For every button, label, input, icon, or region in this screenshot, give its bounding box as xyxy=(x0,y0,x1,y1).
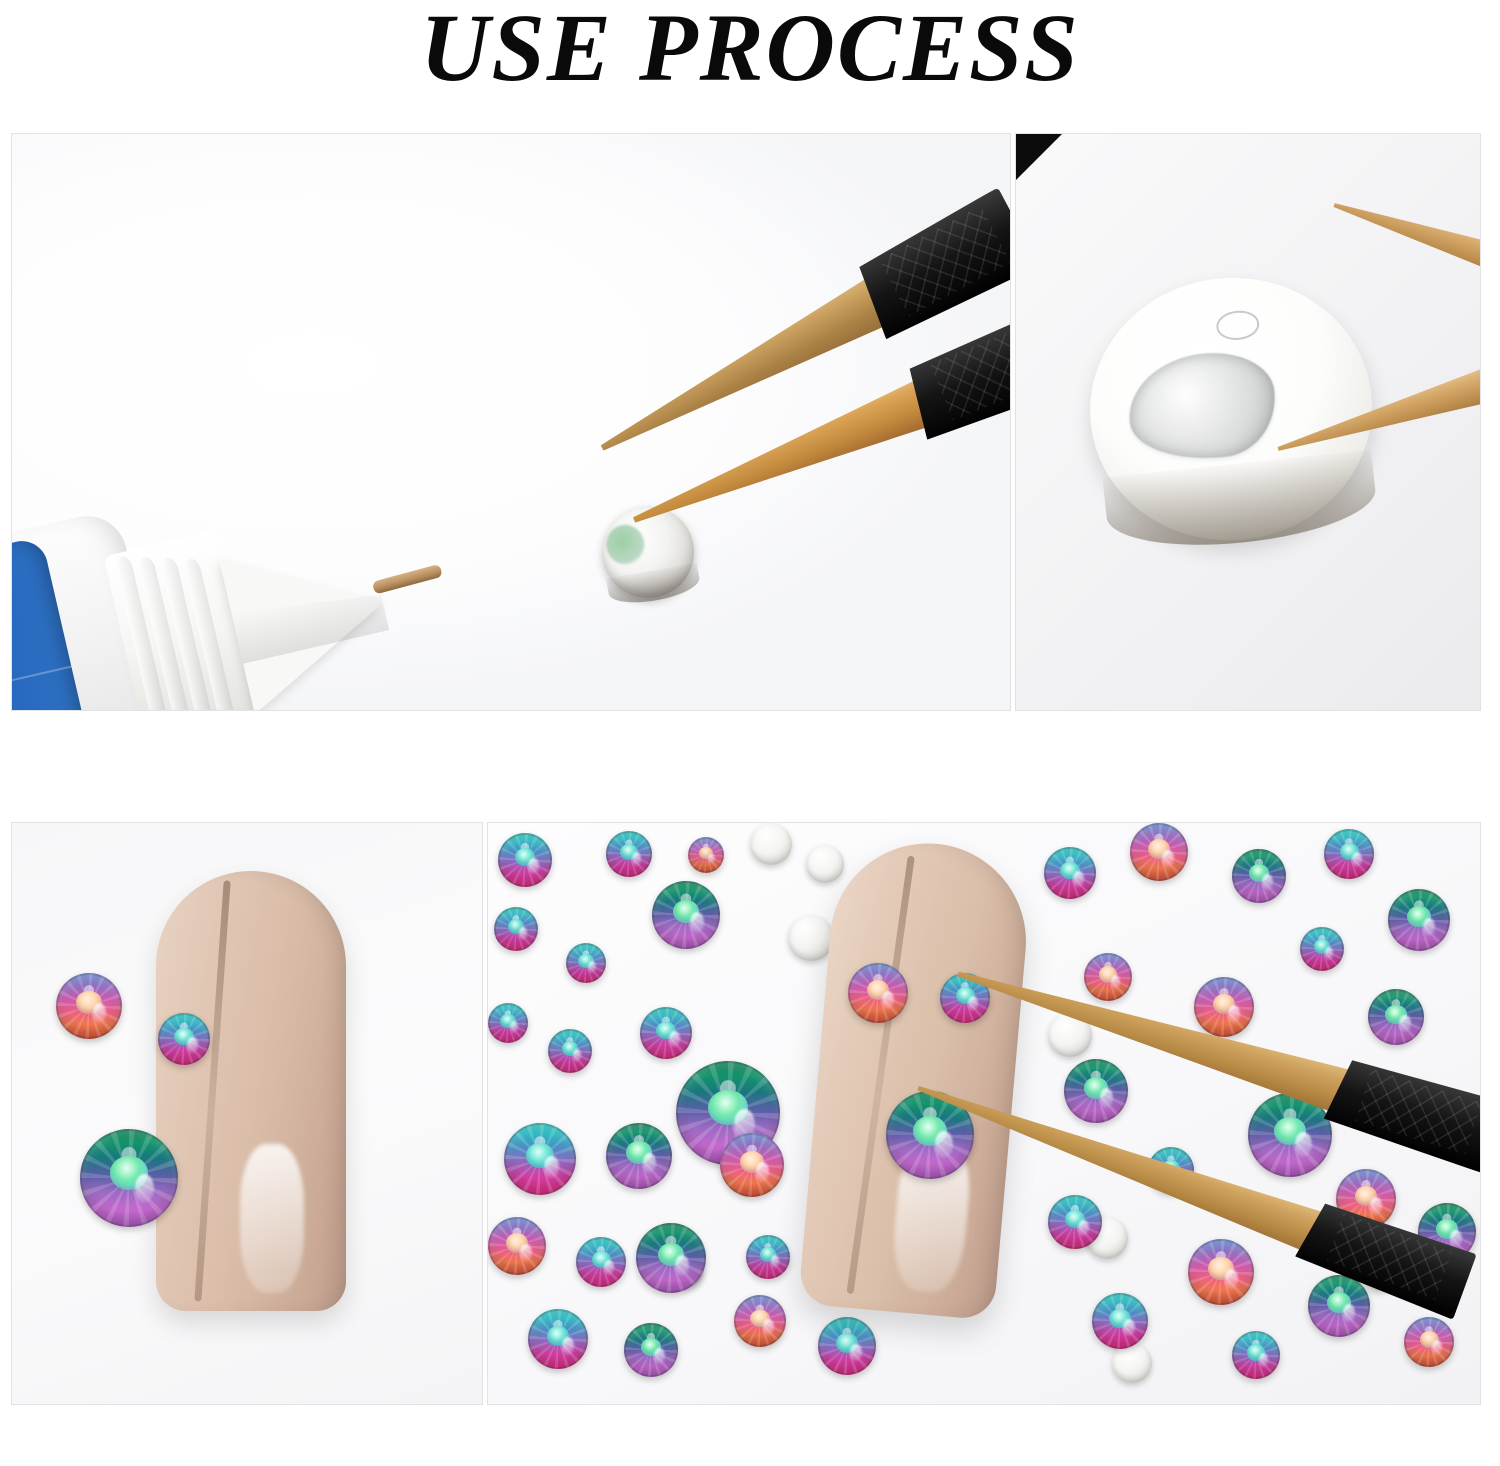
rhinestone-rim xyxy=(498,833,552,887)
flatback-disc xyxy=(1112,1343,1152,1383)
rhinestone xyxy=(528,1309,588,1369)
rhinestone-rim xyxy=(652,881,720,949)
rhinestone-rim xyxy=(606,831,652,877)
page-title: USE PROCESS xyxy=(0,0,1500,103)
rhinestone-rim xyxy=(1308,1275,1370,1337)
rhinestone-rim xyxy=(566,943,606,983)
rhinestone xyxy=(1368,989,1424,1045)
rhinestone-rim xyxy=(688,837,724,873)
rhinestone-rim xyxy=(1388,889,1450,951)
rhinestone xyxy=(1308,1275,1370,1337)
rhinestone xyxy=(746,1235,790,1279)
rhinestone-rim xyxy=(1044,847,1096,899)
rhinestone-rim xyxy=(720,1133,784,1197)
rhinestone xyxy=(688,837,724,873)
glue-bubble xyxy=(1215,309,1260,342)
panel-finished-nail xyxy=(11,822,483,1405)
rhinestone-rim xyxy=(1092,1293,1148,1349)
rhinestone xyxy=(576,1237,626,1287)
rhinestone-rim xyxy=(158,1013,210,1065)
flatback-disc xyxy=(750,823,792,865)
rhinestone xyxy=(606,1123,672,1189)
rhinestone xyxy=(818,1317,876,1375)
step-2-section: #STEP 2: Put the rhinestone on the nail xyxy=(0,822,1500,1405)
rhinestone-rim xyxy=(488,1003,528,1043)
rhinestone-rim xyxy=(1232,849,1286,903)
step-2-panel-row xyxy=(0,822,1500,1405)
rhinestone xyxy=(1300,927,1344,971)
rhinestone xyxy=(624,1323,678,1377)
rhinestone xyxy=(1044,847,1096,899)
rhinestone xyxy=(56,973,122,1039)
step-1-section: O T xyxy=(0,133,1500,711)
rhinestone xyxy=(494,907,538,951)
rhinestone-rim xyxy=(494,907,538,951)
nail-highlight xyxy=(240,1144,305,1294)
rhinestone-rim xyxy=(1232,1331,1280,1379)
rhinestone-rim xyxy=(1188,1239,1254,1305)
rhinestone-rim xyxy=(1300,927,1344,971)
rhinestone-rim xyxy=(818,1317,876,1375)
rhinestone-rim xyxy=(1130,823,1188,881)
rhinestone-rim xyxy=(80,1129,178,1227)
rhinestone xyxy=(606,831,652,877)
infographic-page: USE PROCESS O T xyxy=(0,0,1500,1466)
rhinestone-rim xyxy=(606,1123,672,1189)
rhinestone xyxy=(1388,889,1450,951)
panel-rhinestone-back-closeup xyxy=(1015,133,1481,711)
rhinestone xyxy=(488,1217,546,1275)
flatback-disc xyxy=(806,845,844,883)
rhinestone xyxy=(1092,1293,1148,1349)
rhinestone xyxy=(640,1007,692,1059)
rhinestone-rim xyxy=(734,1295,786,1347)
panel-glue-applied-to-rhinestone: O T xyxy=(11,133,1011,711)
rhinestone-rim xyxy=(624,1323,678,1377)
rhinestone-rim xyxy=(548,1029,592,1073)
rhinestone xyxy=(488,1003,528,1043)
glue-blob xyxy=(1124,347,1281,467)
rhinestone xyxy=(80,1129,178,1227)
rhinestone xyxy=(498,833,552,887)
rhinestone-rim xyxy=(636,1223,706,1293)
rhinestone-rim xyxy=(640,1007,692,1059)
rhinestone-rim xyxy=(576,1237,626,1287)
rhinestone-rim xyxy=(488,1217,546,1275)
rhinestone xyxy=(1324,829,1374,879)
rhinestone xyxy=(720,1133,784,1197)
rhinestone xyxy=(734,1295,786,1347)
rhinestone xyxy=(548,1029,592,1073)
rhinestone xyxy=(1188,1239,1254,1305)
rhinestone-rim xyxy=(528,1309,588,1369)
rhinestone-rim xyxy=(1368,989,1424,1045)
rhinestone xyxy=(1130,823,1188,881)
rhinestone xyxy=(848,963,908,1023)
rhinestone xyxy=(1232,1331,1280,1379)
rhinestone xyxy=(1232,849,1286,903)
rhinestone-rim xyxy=(1324,829,1374,879)
rhinestone-rim xyxy=(1404,1317,1454,1367)
rhinestone xyxy=(158,1013,210,1065)
rhinestone-rim xyxy=(848,963,908,1023)
rhinestone xyxy=(1048,1195,1102,1249)
tweezers xyxy=(542,229,1011,649)
rhinestone xyxy=(636,1223,706,1293)
rhinestone xyxy=(566,943,606,983)
panel-applying-rhinestone xyxy=(487,822,1481,1405)
rhinestone-rim xyxy=(56,973,122,1039)
press-on-nail xyxy=(156,871,346,1311)
step-1-panel-row: O T xyxy=(0,133,1500,711)
rhinestone xyxy=(504,1123,576,1195)
rhinestone xyxy=(652,881,720,949)
rhinestone-rim xyxy=(746,1235,790,1279)
rhinestone-rim xyxy=(504,1123,576,1195)
rhinestone xyxy=(1404,1317,1454,1367)
rhinestone-rim xyxy=(1048,1195,1102,1249)
flatback-disc xyxy=(788,915,834,961)
